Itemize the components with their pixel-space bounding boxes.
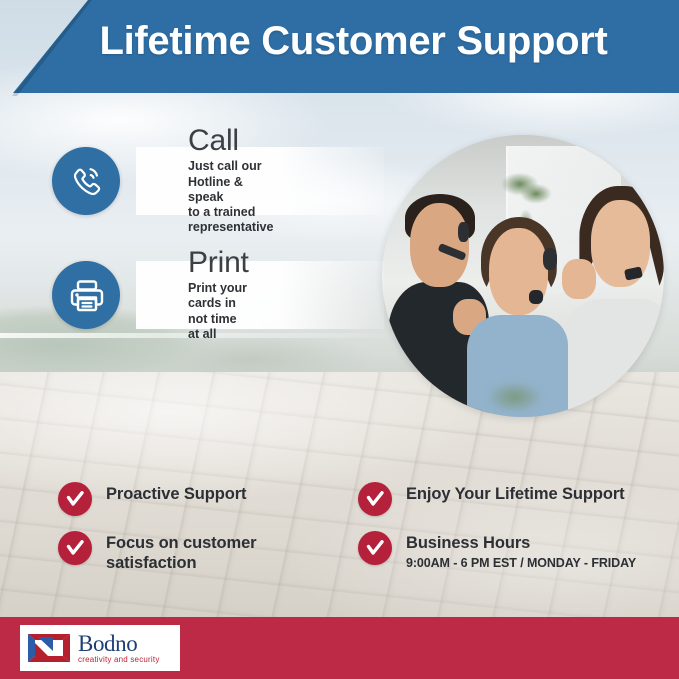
list-item: Proactive Support	[58, 482, 246, 516]
feature-call-text: Call Just call our Hotline & speak to a …	[188, 126, 273, 235]
list-item-label: Focus on customer satisfaction	[106, 534, 257, 574]
check-circle-icon	[358, 531, 392, 565]
feature-print-text: Print Print your cards in not time at al…	[188, 248, 249, 342]
list-item: Enjoy Your Lifetime Support	[358, 482, 625, 516]
footer-bar: Bodno creativity and security	[0, 617, 679, 679]
check-circle-icon	[58, 531, 92, 565]
business-hours-value: 9:00AM - 6 PM EST / MONDAY - FRIDAY	[406, 556, 636, 571]
list-item: Focus on customer satisfaction	[58, 531, 257, 574]
photo-person-center-microphone	[529, 290, 543, 304]
bodno-logo: Bodno creativity and security	[20, 625, 180, 671]
phone-icon	[52, 147, 120, 215]
photo-foreground-plant	[467, 366, 563, 417]
bodno-logo-tagline: creativity and security	[78, 656, 160, 664]
list-item-body: Enjoy Your Lifetime Support	[406, 482, 625, 505]
photo-person-center-fist	[562, 259, 596, 298]
list-item-body: Focus on customer satisfaction	[106, 531, 257, 574]
call-center-team-photo	[382, 135, 664, 417]
check-circle-icon	[58, 482, 92, 516]
photo-person-left-headset	[458, 222, 469, 242]
list-item-body: Business Hours 9:00AM - 6 PM EST / MONDA…	[406, 531, 636, 571]
marketing-poster: Lifetime Customer Support	[0, 0, 679, 679]
list-item-label: Proactive Support	[106, 485, 246, 505]
list-item-label: Enjoy Your Lifetime Support	[406, 485, 625, 505]
feature-print-card	[136, 261, 384, 329]
feature-call-title: Call	[188, 126, 273, 156]
feature-print-title: Print	[188, 248, 249, 278]
feature-print-description: Print your cards in not time at all	[188, 281, 249, 342]
list-item: Business Hours 9:00AM - 6 PM EST / MONDA…	[358, 531, 636, 571]
printer-icon	[52, 261, 120, 329]
photo-person-right-body	[562, 299, 664, 417]
bodno-logo-text: Bodno creativity and security	[78, 632, 160, 664]
feature-call-description: Just call our Hotline & speak to a train…	[188, 159, 273, 235]
bodno-logo-name: Bodno	[78, 632, 160, 655]
photo-person-center-headset	[543, 248, 557, 271]
check-circle-icon	[358, 482, 392, 516]
list-item-body: Proactive Support	[106, 482, 246, 505]
bodno-card-logo-icon	[26, 631, 72, 665]
page-title: Lifetime Customer Support	[0, 19, 679, 64]
list-item-label: Business Hours	[406, 534, 636, 554]
